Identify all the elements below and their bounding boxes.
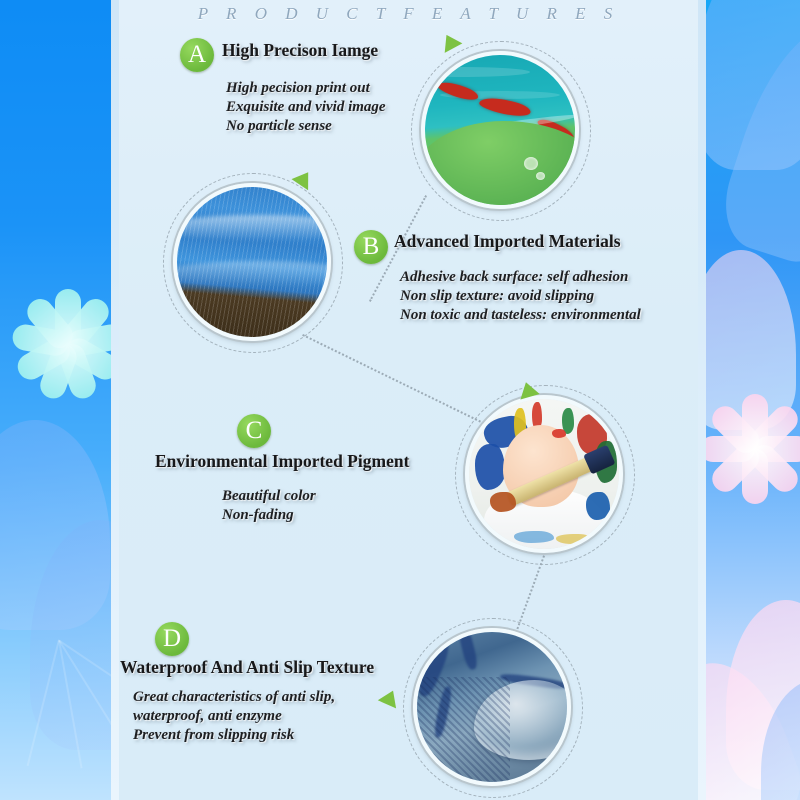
blurb-d: Great characteristics of anti slip, wate… — [133, 688, 335, 745]
photo-c — [465, 395, 623, 553]
blurb-d-line-2: waterproof, anti enzyme — [133, 707, 335, 726]
heading-d: Waterproof And Anti Slip Texture — [120, 657, 374, 678]
badge-a: A — [180, 38, 214, 72]
blurb-c-line-2: Non-fading — [222, 506, 316, 525]
left-decorative-band — [0, 0, 111, 800]
photo-b — [173, 183, 331, 341]
blurb-a-line-2: Exquisite and vivid image — [226, 98, 386, 117]
blurb-d-line-3: Prevent from slipping risk — [133, 726, 335, 745]
photo-d — [413, 628, 571, 786]
left-flower-icon — [8, 285, 111, 405]
badge-b: B — [354, 230, 388, 264]
right-band-edge — [698, 0, 706, 800]
blurb-b-line-3: Non toxic and tasteless: environmental — [400, 306, 641, 325]
blurb-b-line-2: Non slip texture: avoid slipping — [400, 287, 641, 306]
blurb-c: Beautiful color Non-fading — [222, 487, 316, 525]
blurb-c-line-1: Beautiful color — [222, 487, 316, 506]
blurb-b: Adhesive back surface: self adhesion Non… — [400, 268, 641, 325]
blurb-b-line-1: Adhesive back surface: self adhesion — [400, 268, 641, 287]
product-features-poster: P R O D U C T F E A T U R E S A High Pre… — [0, 0, 800, 800]
blurb-d-line-1: Great characteristics of anti slip, — [133, 688, 335, 707]
blurb-a-line-3: No particle sense — [226, 117, 386, 136]
badge-d: D — [155, 622, 189, 656]
blurb-a-line-1: High pecision print out — [226, 79, 386, 98]
left-band-edge — [111, 0, 119, 800]
right-decorative-band — [706, 0, 800, 800]
heading-a: High Precison Iamge — [222, 40, 378, 61]
heading-b: Advanced Imported Materials — [394, 231, 621, 252]
right-flower-icon — [706, 390, 800, 508]
badge-c: C — [237, 414, 271, 448]
blurb-a: High pecision print out Exquisite and vi… — [226, 79, 386, 136]
photo-a — [421, 51, 579, 209]
heading-c: Environmental Imported Pigment — [155, 451, 409, 472]
page-title: P R O D U C T F E A T U R E S — [119, 4, 698, 24]
